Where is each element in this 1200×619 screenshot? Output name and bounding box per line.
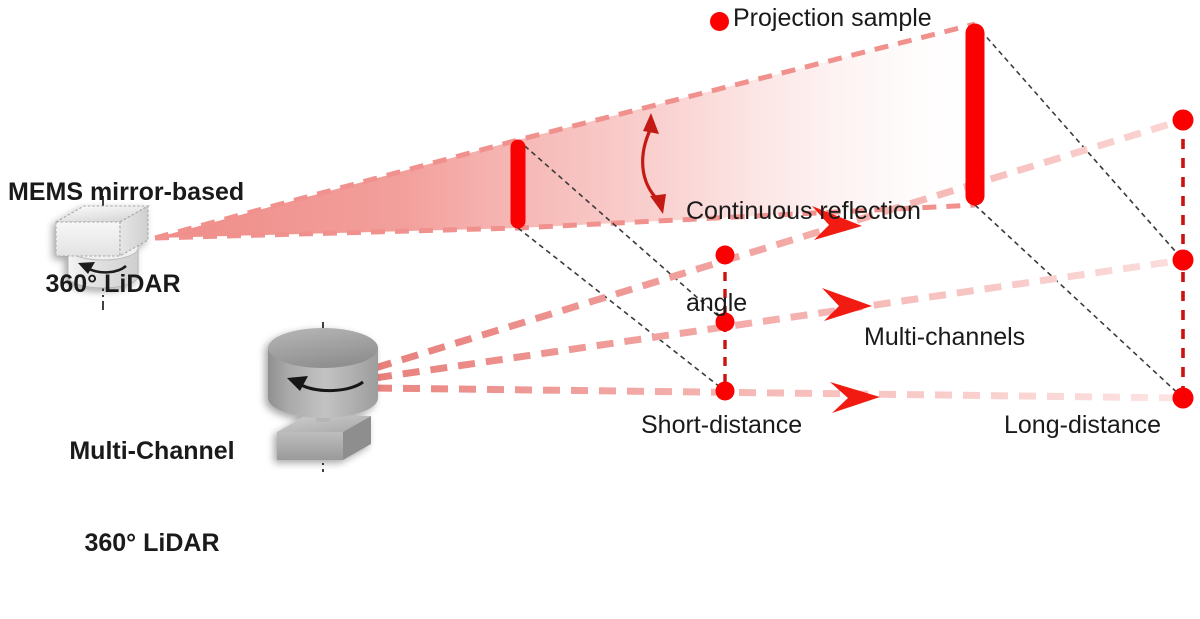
sample-dot: [716, 382, 735, 401]
multichannel-device-title: Multi-Channel 360° LiDAR: [62, 375, 242, 619]
multichannel-title-line1: Multi-Channel: [62, 436, 242, 467]
short-distance-label: Short-distance: [641, 410, 802, 441]
multi-channels-annotation: Multi-channels: [864, 322, 1025, 353]
long-distance-sample-column: [1173, 110, 1194, 409]
sample-dot: [1173, 250, 1194, 271]
arrowhead-lower: [830, 382, 880, 413]
mems-title-line1: MEMS mirror-based: [8, 177, 218, 208]
mems-title-line2: 360° LiDAR: [8, 269, 218, 300]
multi-channel-cylinder-lidar-icon: [268, 322, 378, 472]
long-distance-label: Long-distance: [1004, 410, 1161, 441]
multichannel-title-line2: 360° LiDAR: [62, 528, 242, 559]
legend-marker-icon: [710, 12, 729, 31]
sample-dot: [1173, 388, 1194, 409]
annotation-line1: Continuous reflection: [686, 196, 1016, 227]
sample-dot: [1173, 110, 1194, 131]
diagram-canvas: MEMS mirror-based 360° LiDAR Multi-Chann…: [0, 0, 1200, 494]
beam-lower: [375, 388, 1183, 398]
legend-label: Projection sample: [733, 3, 932, 34]
mems-device-title: MEMS mirror-based 360° LiDAR: [8, 116, 218, 360]
annotation-line2: angle: [686, 288, 1016, 319]
